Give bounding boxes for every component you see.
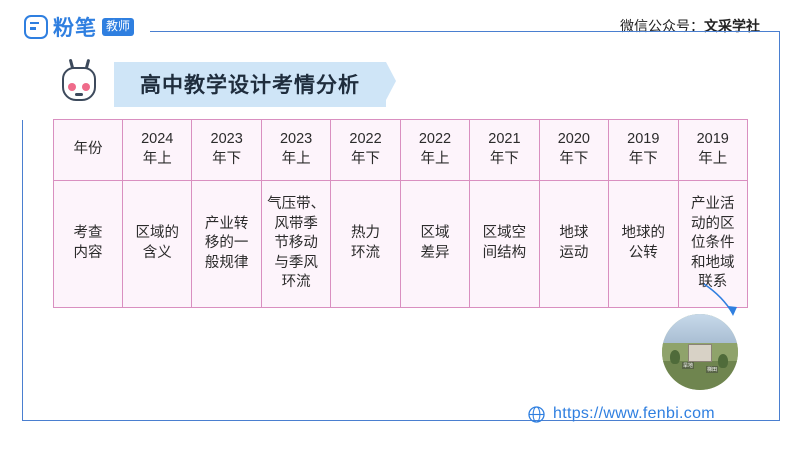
title-banner: 高中教学设计考情分析 (114, 62, 386, 107)
wechat-account-line: 微信公众号：文采学社 (620, 16, 760, 36)
photo-label-1: 旱地 (682, 362, 694, 369)
table-cell-year: 2019 年上 (678, 120, 748, 181)
page-header: 粉笔 教师 微信公众号：文采学社 (0, 0, 800, 46)
fenbi-logo-icon (24, 15, 48, 39)
mascot-mouth-icon (75, 93, 83, 96)
photo-sky (662, 314, 738, 344)
table-cell-content: 热力 环流 (331, 181, 400, 308)
mascot-icon (60, 63, 100, 107)
table-cell-content: 区域 差异 (400, 181, 469, 308)
frame-line-top (150, 31, 780, 32)
table-cell-year: 2021 年下 (470, 120, 539, 181)
table-cell-content: 产业转 移的一 般规律 (192, 181, 261, 308)
table-row-years: 年份 2024 年上 2023 年下 2023 年上 2022 年下 2022 … (54, 120, 748, 181)
photo-tree-left (670, 350, 680, 364)
table-cell-content: 地球的 公转 (609, 181, 678, 308)
mascot-eye-right-icon (82, 83, 90, 91)
terrace-photo: 旱地 梯田 (662, 314, 738, 390)
frame-line-left (22, 120, 23, 421)
table-cell-content: 区域的 含义 (123, 181, 192, 308)
photo-house (688, 344, 712, 362)
globe-icon (528, 406, 545, 423)
brand-logo: 粉笔 教师 (24, 12, 134, 42)
table-cell-year: 2019 年下 (609, 120, 678, 181)
photo-tree-right (718, 354, 728, 368)
table-cell-year: 2022 年上 (400, 120, 469, 181)
table-cell-year: 2023 年上 (261, 120, 330, 181)
row-label-content: 考查 内容 (54, 181, 123, 308)
page-title: 高中教学设计考情分析 (140, 74, 360, 97)
slide-title-area: 高中教学设计考情分析 (60, 62, 386, 107)
table-cell-year: 2022 年下 (331, 120, 400, 181)
table-row-content: 考查 内容 区域的 含义 产业转 移的一 般规律 气压带、 风带季 节移动 与季… (54, 181, 748, 308)
brand-badge: 教师 (102, 18, 134, 35)
photo-label-2: 梯田 (706, 366, 718, 373)
table-cell-year: 2024 年上 (123, 120, 192, 181)
table-cell-year: 2020 年下 (539, 120, 608, 181)
footer-link[interactable]: https://www.fenbi.com (528, 405, 715, 423)
row-label-year: 年份 (54, 120, 123, 181)
table-cell-content: 气压带、 风带季 节移动 与季风 环流 (261, 181, 330, 308)
table-cell-content: 区域空 间结构 (470, 181, 539, 308)
footer-url-text: https://www.fenbi.com (553, 405, 715, 423)
brand-name: 粉笔 (53, 12, 97, 42)
table-cell-year: 2023 年下 (192, 120, 261, 181)
exam-analysis-table: 年份 2024 年上 2023 年下 2023 年上 2022 年下 2022 … (53, 119, 748, 308)
mascot-eye-left-icon (68, 83, 76, 91)
table-cell-content: 地球 运动 (539, 181, 608, 308)
frame-line-right (779, 31, 780, 421)
